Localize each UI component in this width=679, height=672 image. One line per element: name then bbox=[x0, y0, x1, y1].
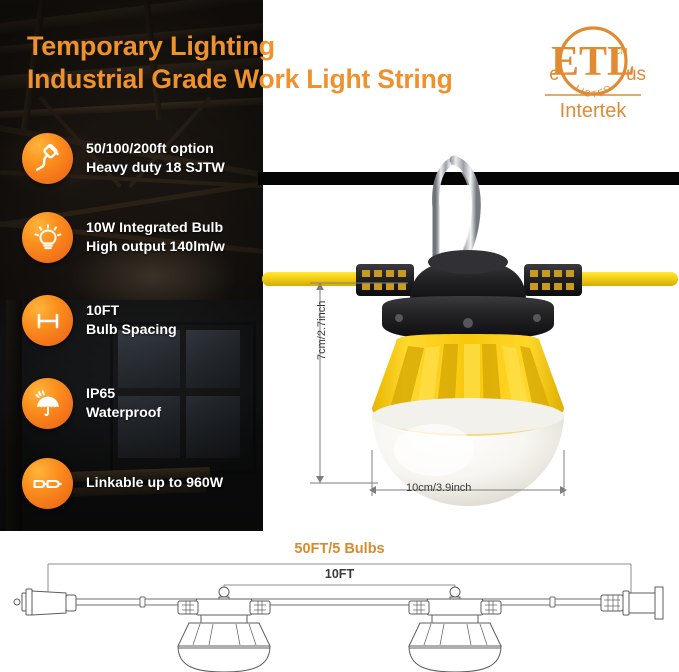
bulb-outline bbox=[409, 587, 501, 672]
product-infographic: Temporary Lighting Industrial Grade Work… bbox=[0, 0, 679, 672]
feature-line-1: 10FT bbox=[86, 302, 177, 321]
feature-line-2: Bulb Spacing bbox=[86, 321, 177, 340]
feature-line-1: IP65 bbox=[86, 385, 161, 404]
feature-row-waterproof: IP65 Waterproof bbox=[22, 378, 161, 429]
feature-text: IP65 Waterproof bbox=[86, 385, 161, 422]
etl-mark-text: ETL bbox=[551, 39, 635, 85]
etl-us-letters: us bbox=[626, 64, 646, 85]
height-dimension-label: 7cm/2.7inch bbox=[316, 301, 328, 360]
power-plug bbox=[14, 589, 76, 615]
spacing-icon bbox=[22, 295, 73, 346]
feature-text: 50/100/200ft option Heavy duty 18 SJTW bbox=[86, 140, 225, 177]
umbrella-icon bbox=[22, 378, 73, 429]
etl-cm-text: CM bbox=[615, 47, 628, 56]
feature-row-linkable: Linkable up to 960W bbox=[22, 458, 223, 509]
feature-row-bulb-output: 10W Integrated Bulb High output 140lm/w bbox=[22, 212, 225, 263]
feature-text: Linkable up to 960W bbox=[86, 474, 223, 493]
width-dimension-label: 10cm/3.9inch bbox=[406, 482, 471, 494]
feature-line-2: Heavy duty 18 SJTW bbox=[86, 159, 225, 178]
spacing-length-label: 10FT bbox=[0, 567, 679, 581]
link-connector bbox=[601, 587, 663, 619]
feature-text: 10W Integrated Bulb High output 140lm/w bbox=[86, 219, 225, 256]
feature-line-1: Linkable up to 960W bbox=[86, 474, 223, 493]
feature-text: 10FT Bulb Spacing bbox=[86, 302, 177, 339]
plug-icon bbox=[22, 133, 73, 184]
feature-line-1: 50/100/200ft option bbox=[86, 140, 225, 159]
feature-line-2: High output 140lm/w bbox=[86, 238, 225, 257]
bulb-outline bbox=[178, 587, 270, 672]
intertek-brand-text: Intertek bbox=[560, 100, 628, 122]
total-length-label: 50FT/5 Bulbs bbox=[0, 541, 679, 557]
etl-intertek-logo: ETL CM LISTED c us Intertek bbox=[523, 18, 663, 128]
feature-line-1: 10W Integrated Bulb bbox=[86, 219, 225, 238]
cord-line bbox=[66, 599, 616, 605]
feature-row-cord-length: 50/100/200ft option Heavy duty 18 SJTW bbox=[22, 133, 225, 184]
lightbulb-icon bbox=[22, 212, 73, 263]
etl-c-letter: c bbox=[549, 64, 559, 85]
feature-row-bulb-spacing: 10FT Bulb Spacing bbox=[22, 295, 177, 346]
link-connector-icon bbox=[22, 458, 73, 509]
feature-line-2: Waterproof bbox=[86, 404, 161, 423]
